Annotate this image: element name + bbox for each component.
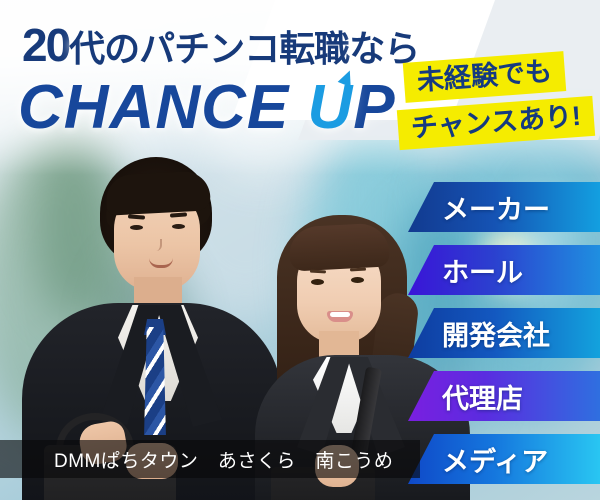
credit-text: DMMぱちタウン あさくら 南こうめ — [54, 446, 393, 473]
category-label: メディア — [442, 440, 548, 479]
category-label: ホール — [442, 251, 523, 290]
category-label: 開発会社 — [442, 314, 550, 353]
category-button-maker[interactable]: メーカー — [408, 182, 600, 232]
category-label: メーカー — [442, 188, 550, 227]
credit-bar: DMMぱちタウン あさくら 南こうめ — [0, 440, 420, 478]
category-button-developer[interactable]: 開発会社 — [408, 308, 600, 358]
recruitment-banner[interactable]: 20代のパチンコ転職なら CHANCE UP 未経験でも チャンスあり! メーカ… — [0, 0, 600, 500]
category-button-list: メーカー ホール 開発会社 代理店 メディア — [0, 0, 600, 500]
category-button-hall[interactable]: ホール — [408, 245, 600, 295]
category-button-media[interactable]: メディア — [408, 434, 600, 484]
category-button-agency[interactable]: 代理店 — [408, 371, 600, 421]
category-label: 代理店 — [442, 377, 523, 416]
